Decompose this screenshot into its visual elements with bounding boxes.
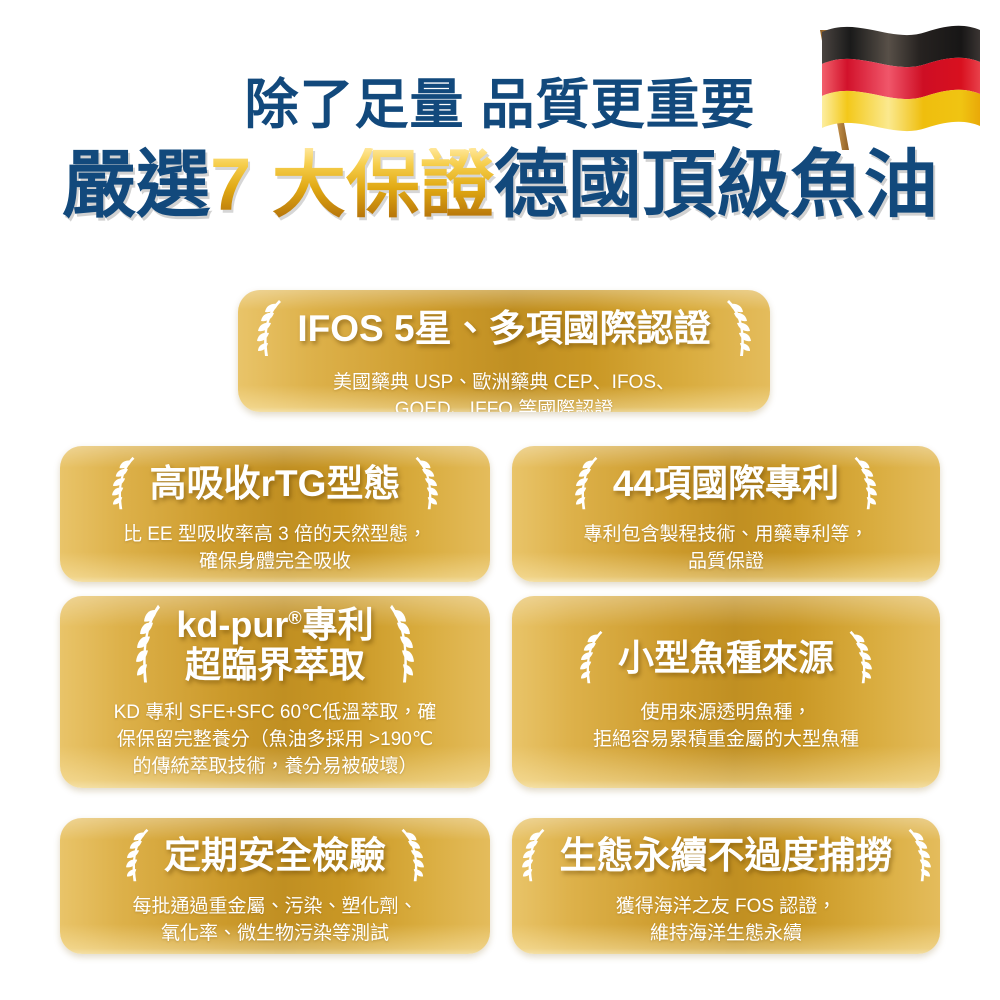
card-title-row: IFOS 5星、多項國際認證: [238, 298, 770, 360]
card-title: IFOS 5星、多項國際認證: [297, 308, 710, 349]
laurel-branch-left-icon: [580, 628, 608, 688]
card-small-fish-source[interactable]: 小型魚種來源 使用來源透明魚種， 拒絕容易累積重金屬的大型魚種: [512, 596, 940, 788]
card-title-row: 生態永續不過度捕撈: [512, 826, 940, 886]
card-eco-sustainability[interactable]: 生態永續不過度捕撈 獲得海洋之友 FOS 認證， 維持海洋生態永續: [512, 818, 940, 954]
laurel-branch-right-icon: [903, 826, 931, 886]
laurel-branch-right-icon: [721, 298, 751, 360]
laurel-branch-left-icon: [575, 454, 603, 514]
guarantee-card-grid: IFOS 5星、多項國際認證 美國藥典 USP、歐洲藥典 CEP、IFOS、 G…: [0, 0, 1000, 1000]
card-title: 定期安全檢驗: [164, 835, 386, 876]
card-title: 高吸收rTG型態: [150, 463, 401, 504]
laurel-branch-left-icon: [136, 602, 166, 688]
card-description: 專利包含製程技術、用藥專利等， 品質保證: [583, 522, 868, 576]
card-kdpur-extraction[interactable]: kd-pur®專利 超臨界萃取 KD 專利 SFE+SFC 60℃低溫萃取，確 …: [60, 596, 490, 788]
laurel-branch-right-icon: [849, 454, 877, 514]
card-title-row: kd-pur®專利 超臨界萃取: [60, 602, 490, 688]
laurel-branch-right-icon: [844, 628, 872, 688]
card-title-line-1: kd-pur®專利: [176, 605, 373, 645]
card-title-row: 定期安全檢驗: [60, 826, 490, 886]
card-description: 使用來源透明魚種， 拒絕容易累積重金屬的大型魚種: [593, 700, 859, 754]
card-international-patents[interactable]: 44項國際專利 專利包含製程技術、用藥專利等， 品質保證: [512, 446, 940, 582]
card-title: kd-pur®專利 超臨界萃取: [176, 605, 373, 686]
laurel-branch-left-icon: [522, 826, 550, 886]
laurel-branch-left-icon: [112, 454, 140, 514]
card-title-line-2: 超臨界萃取: [176, 645, 373, 685]
laurel-branch-left-icon: [126, 826, 154, 886]
card-safety-testing[interactable]: 定期安全檢驗 每批通過重金屬、污染、塑化劑、 氧化率、微生物污染等測試: [60, 818, 490, 954]
card-description: 美國藥典 USP、歐洲藥典 CEP、IFOS、 GOED、IFFO 等國際認證: [333, 370, 675, 412]
card-title: 小型魚種來源: [618, 638, 834, 678]
card-title: 生態永續不過度捕撈: [560, 835, 893, 876]
card-description: KD 專利 SFE+SFC 60℃低溫萃取，確 保保留完整養分（魚油多採用 >1…: [114, 700, 437, 781]
card-title: 44項國際專利: [613, 463, 839, 504]
laurel-branch-left-icon: [257, 298, 287, 360]
card-title-row: 高吸收rTG型態: [60, 454, 490, 514]
card-title-row: 44項國際專利: [512, 454, 940, 514]
card-title-row: 小型魚種來源: [512, 628, 940, 688]
card-rtg-absorption[interactable]: 高吸收rTG型態 比 EE 型吸收率高 3 倍的天然型態， 確保身體完全吸收: [60, 446, 490, 582]
laurel-branch-right-icon: [396, 826, 424, 886]
card-ifos-certification[interactable]: IFOS 5星、多項國際認證 美國藥典 USP、歐洲藥典 CEP、IFOS、 G…: [238, 290, 770, 412]
laurel-branch-right-icon: [410, 454, 438, 514]
card-description: 獲得海洋之友 FOS 認證， 維持海洋生態永續: [616, 894, 837, 948]
card-description: 每批通過重金屬、污染、塑化劑、 氧化率、微生物污染等測試: [132, 894, 417, 948]
laurel-branch-right-icon: [384, 602, 414, 688]
card-description: 比 EE 型吸收率高 3 倍的天然型態， 確保身體完全吸收: [123, 522, 427, 576]
